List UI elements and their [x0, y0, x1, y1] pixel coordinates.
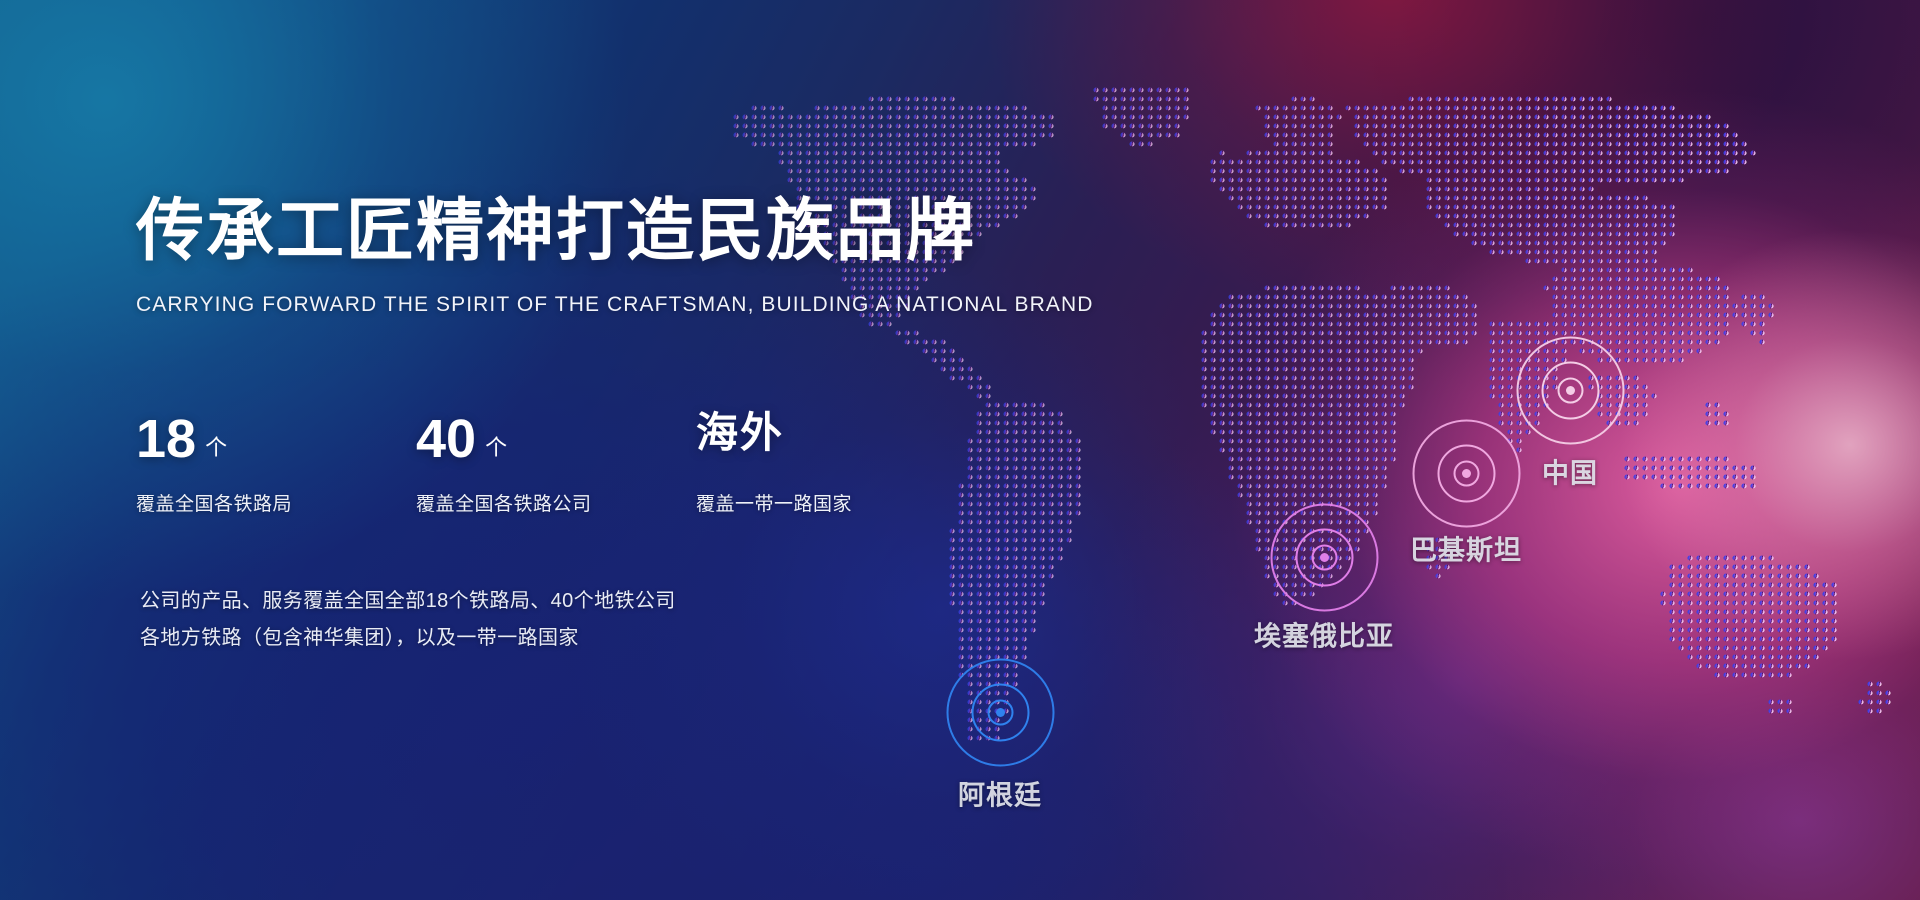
- description-paragraph: 公司的产品、服务覆盖全国全部18个铁路局、40个地铁公司 各地方铁路（包含神华集…: [140, 583, 676, 657]
- stat-unit: 个: [485, 437, 507, 459]
- stat-description: 覆盖一带一路国家: [696, 489, 852, 516]
- page-subtitle: CARRYING FORWARD THE SPIRIT OF THE CRAFT…: [136, 293, 1116, 317]
- stats-row: 18 个 覆盖全国各铁路局 40 个 覆盖全国各铁路公司 海外 覆盖一带一路国家: [136, 412, 852, 516]
- stat-description: 覆盖全国各铁路局: [136, 489, 416, 516]
- stat-value: 40: [416, 412, 476, 466]
- stat-value-row: 海外: [696, 412, 852, 474]
- stat-value-row: 40 个: [416, 412, 696, 474]
- hero-copy: 传承工匠精神打造民族品牌 CARRYING FORWARD THE SPIRIT…: [136, 196, 1116, 317]
- stat-item: 18 个 覆盖全国各铁路局: [136, 412, 416, 516]
- paragraph-line-2: 各地方铁路（包含神华集团），以及一带一路国家: [140, 620, 676, 657]
- page-title: 传承工匠精神打造民族品牌: [136, 196, 1116, 267]
- stat-value: 海外: [696, 412, 784, 454]
- stat-value-row: 18 个: [136, 412, 416, 474]
- paragraph-line-1: 公司的产品、服务覆盖全国全部18个铁路局、40个地铁公司: [140, 583, 676, 620]
- stat-unit: 个: [205, 437, 227, 459]
- stat-description: 覆盖全国各铁路公司: [416, 489, 696, 516]
- stat-item: 海外 覆盖一带一路国家: [696, 412, 852, 516]
- banner-stage: 中国巴基斯坦埃塞俄比亚阿根廷 传承工匠精神打造民族品牌 CARRYING FOR…: [0, 0, 1920, 900]
- stat-item: 40 个 覆盖全国各铁路公司: [416, 412, 696, 516]
- stat-value: 18: [136, 412, 196, 466]
